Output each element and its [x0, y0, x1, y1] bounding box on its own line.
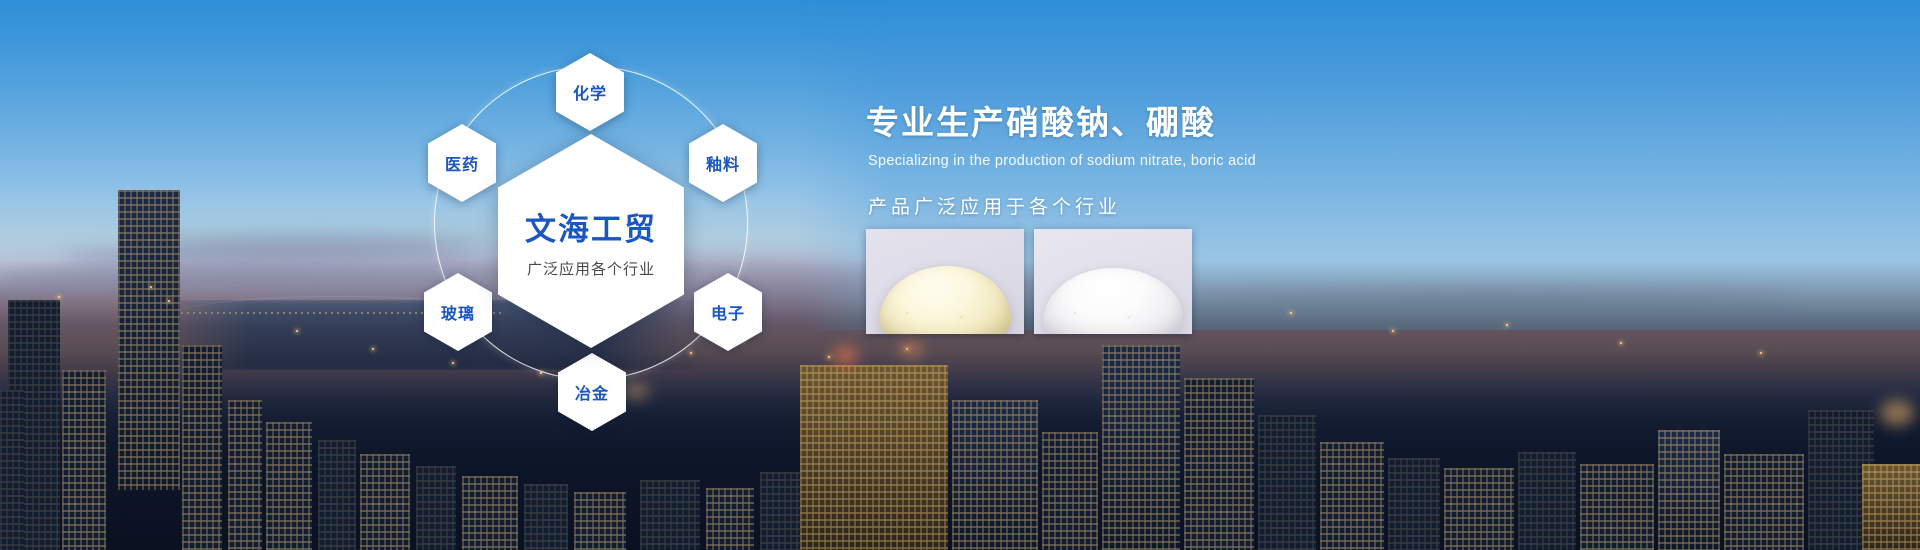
building: [1388, 458, 1440, 550]
building: [1518, 452, 1576, 550]
building: [1042, 432, 1098, 550]
hex-node-center[interactable]: 文海工贸 广泛应用各个行业: [498, 134, 684, 348]
hex-node-chemistry[interactable]: 化学: [556, 53, 624, 131]
building: [266, 422, 312, 550]
building: [524, 484, 568, 550]
headline-block: 专业生产硝酸钠、硼酸 Specializing in the productio…: [866, 104, 1566, 219]
city-light: [828, 356, 830, 358]
city-light: [372, 348, 374, 350]
city-light: [58, 296, 60, 298]
building: [228, 400, 262, 550]
building: [1862, 464, 1920, 550]
building: [1320, 442, 1384, 550]
city-light: [150, 286, 152, 288]
powder-grain-texture: [1034, 229, 1192, 334]
building: [360, 454, 410, 550]
building: [1184, 378, 1254, 550]
building: [0, 390, 24, 550]
hex-node-electronics[interactable]: 电子: [694, 273, 762, 351]
building: [706, 488, 754, 550]
hex-node-label: 电子: [711, 300, 745, 324]
building: [1258, 415, 1316, 550]
city-light: [296, 330, 298, 332]
subheadline-english: Specializing in the production of sodium…: [868, 153, 1566, 169]
hex-node-glass[interactable]: 玻璃: [424, 273, 492, 351]
industry-hexagon-diagram: 化学 釉料 电子 冶金 玻璃 医药 文海工贸 广泛应用各个行业: [406, 28, 796, 428]
building: [1102, 345, 1180, 550]
hex-node-label: 医药: [445, 151, 479, 175]
hex-node-pharmaceutical[interactable]: 医药: [428, 124, 496, 202]
city-light: [168, 300, 170, 302]
building: [574, 492, 626, 550]
building: [318, 440, 356, 550]
hex-node-glaze[interactable]: 釉料: [689, 124, 757, 202]
building: [118, 190, 180, 490]
city-light: [1290, 312, 1292, 314]
hex-node-metallurgy[interactable]: 冶金: [558, 353, 626, 431]
building: [416, 466, 456, 550]
promo-banner: 化学 釉料 电子 冶金 玻璃 医药 文海工贸 广泛应用各个行业: [0, 0, 1920, 550]
product-photo-boric-acid[interactable]: [1034, 229, 1192, 334]
building: [952, 400, 1038, 550]
building: [1444, 468, 1514, 550]
city-glow: [832, 346, 858, 366]
product-photo-gallery: [866, 229, 1192, 334]
hex-node-label: 冶金: [575, 380, 609, 404]
building: [800, 365, 948, 550]
headline: 专业生产硝酸钠、硼酸: [866, 104, 1566, 142]
building: [462, 476, 518, 550]
city-glow: [900, 340, 922, 358]
company-tagline: 广泛应用各个行业: [527, 258, 655, 279]
hex-node-label: 玻璃: [441, 300, 475, 324]
tagline: 产品广泛应用于各个行业: [868, 192, 1566, 219]
city-light: [1506, 324, 1508, 326]
hex-node-label: 釉料: [706, 151, 740, 175]
hex-node-label: 化学: [573, 80, 607, 104]
city-light: [1392, 330, 1394, 332]
building: [1658, 430, 1720, 550]
building: [1580, 464, 1654, 550]
building: [1724, 454, 1804, 550]
city-light: [1620, 342, 1622, 344]
city-light: [1760, 352, 1762, 354]
company-name: 文海工贸: [525, 204, 657, 249]
product-photo-sodium-nitrate[interactable]: [866, 229, 1024, 334]
building: [640, 480, 700, 550]
building: [62, 370, 106, 550]
building: [182, 345, 222, 550]
powder-grain-texture: [866, 229, 1024, 334]
city-glow: [1880, 400, 1914, 426]
